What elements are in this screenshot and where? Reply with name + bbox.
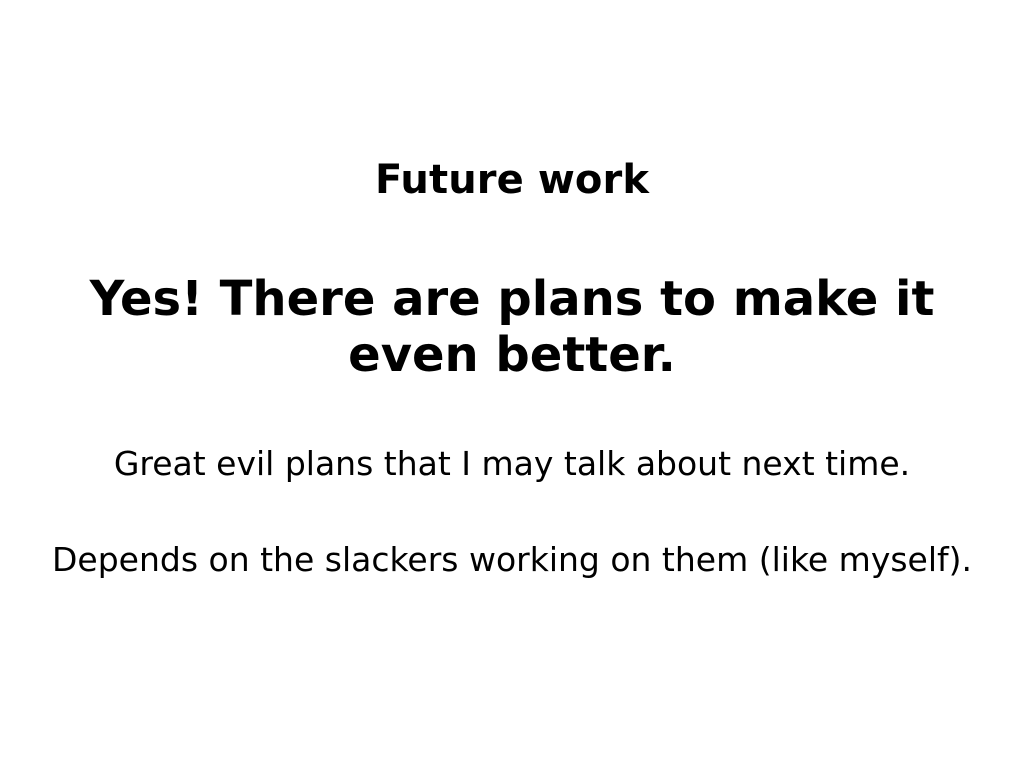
- slide-canvas: Future work Yes! There are plans to make…: [0, 0, 1024, 768]
- body-line-1: Great evil plans that I may talk about n…: [0, 444, 1024, 484]
- body-line-2: Depends on the slackers working on them …: [0, 540, 1024, 580]
- slide-title: Future work: [0, 156, 1024, 205]
- body-block: Great evil plans that I may talk about n…: [0, 444, 1024, 579]
- slide-subtitle: Yes! There are plans to make it even bet…: [87, 272, 937, 383]
- subtitle-block: Yes! There are plans to make it even bet…: [0, 272, 1024, 383]
- title-block: Future work: [0, 156, 1024, 205]
